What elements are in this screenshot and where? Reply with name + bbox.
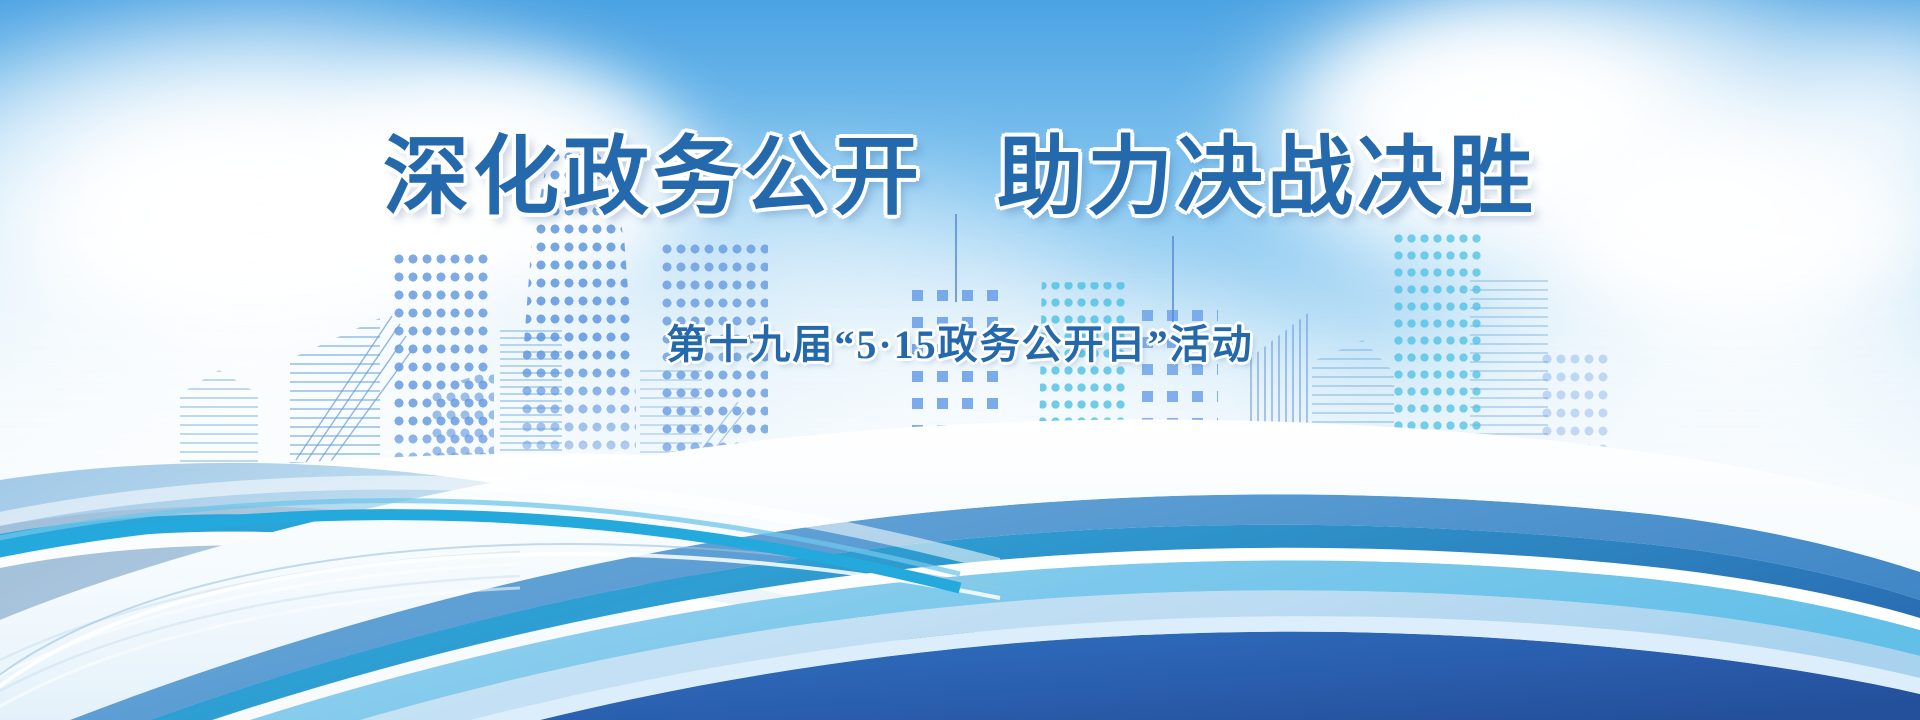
headline-block: 深化政务公开助力决战决胜 xyxy=(0,132,1920,223)
wave-graphic xyxy=(0,320,1920,720)
headline-part1: 深化政务公开 xyxy=(383,129,923,225)
headline: 深化政务公开助力决战决胜 xyxy=(383,132,1537,223)
headline-part2: 助力决战决胜 xyxy=(997,129,1537,225)
subtitle-block: 第十九届“5·15政务公开日”活动 xyxy=(0,312,1920,370)
poster-canvas: 深化政务公开助力决战决胜 第十九届“5·15政务公开日”活动 xyxy=(0,0,1920,720)
subtitle: 第十九届“5·15政务公开日”活动 xyxy=(666,312,1253,370)
